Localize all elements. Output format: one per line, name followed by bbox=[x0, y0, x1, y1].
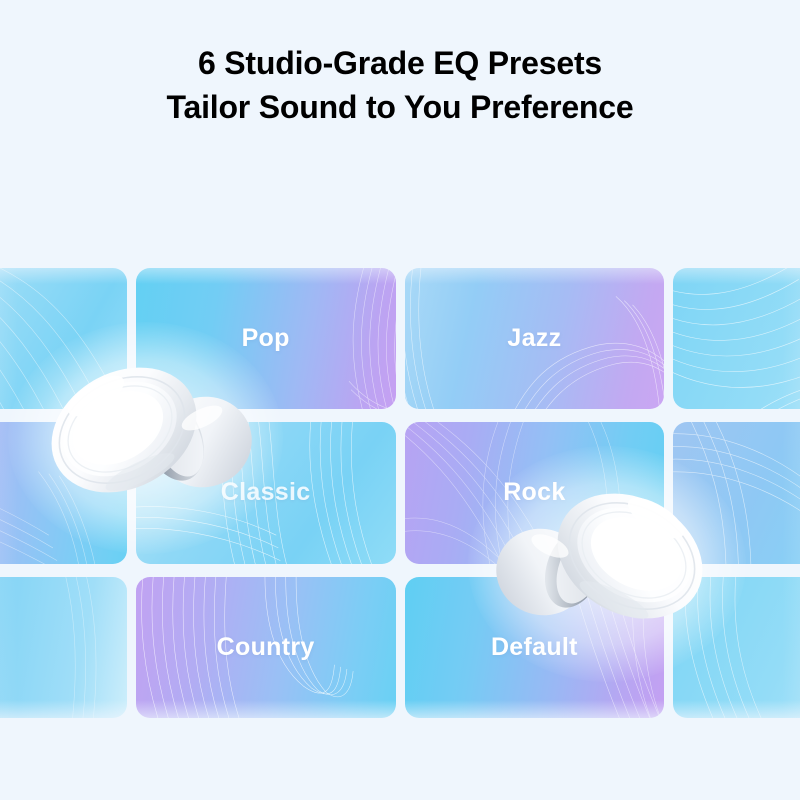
eq-tile-label: Default bbox=[491, 633, 578, 662]
eq-tile-edge-mid-left[interactable] bbox=[0, 422, 127, 563]
headline-line-2: Tailor Sound to You Preference bbox=[0, 86, 800, 130]
eq-tile-default[interactable]: Default bbox=[405, 577, 665, 718]
wave-mesh-decoration bbox=[0, 422, 127, 563]
wave-mesh-decoration bbox=[0, 268, 127, 409]
wave-mesh-decoration bbox=[0, 577, 127, 718]
eq-tile-label: Classic bbox=[221, 478, 311, 507]
wave-mesh-decoration bbox=[673, 422, 800, 563]
wave-mesh-decoration bbox=[673, 268, 800, 409]
eq-tile-edge-bottom-right[interactable] bbox=[673, 577, 800, 718]
eq-tile-rock[interactable]: Rock bbox=[405, 422, 665, 563]
eq-tile-pop[interactable]: Pop bbox=[136, 268, 396, 409]
eq-preset-grid: Pop Jazz bbox=[0, 268, 800, 718]
eq-tile-classic[interactable]: Classic bbox=[136, 422, 396, 563]
eq-tile-label: Rock bbox=[503, 478, 565, 507]
eq-tile-edge-bottom-left[interactable] bbox=[0, 577, 127, 718]
eq-tile-edge-top-left[interactable] bbox=[0, 268, 127, 409]
eq-tile-label: Country bbox=[217, 633, 315, 662]
eq-tile-jazz[interactable]: Jazz bbox=[405, 268, 665, 409]
eq-tile-label: Pop bbox=[242, 324, 290, 353]
page-title: 6 Studio-Grade EQ Presets Tailor Sound t… bbox=[0, 42, 800, 129]
eq-tile-label: Jazz bbox=[507, 324, 561, 353]
headline-line-1: 6 Studio-Grade EQ Presets bbox=[0, 42, 800, 86]
eq-tile-edge-mid-right[interactable] bbox=[673, 422, 800, 563]
eq-tile-country[interactable]: Country bbox=[136, 577, 396, 718]
eq-tile-edge-top-right[interactable] bbox=[673, 268, 800, 409]
wave-mesh-decoration bbox=[673, 577, 800, 718]
